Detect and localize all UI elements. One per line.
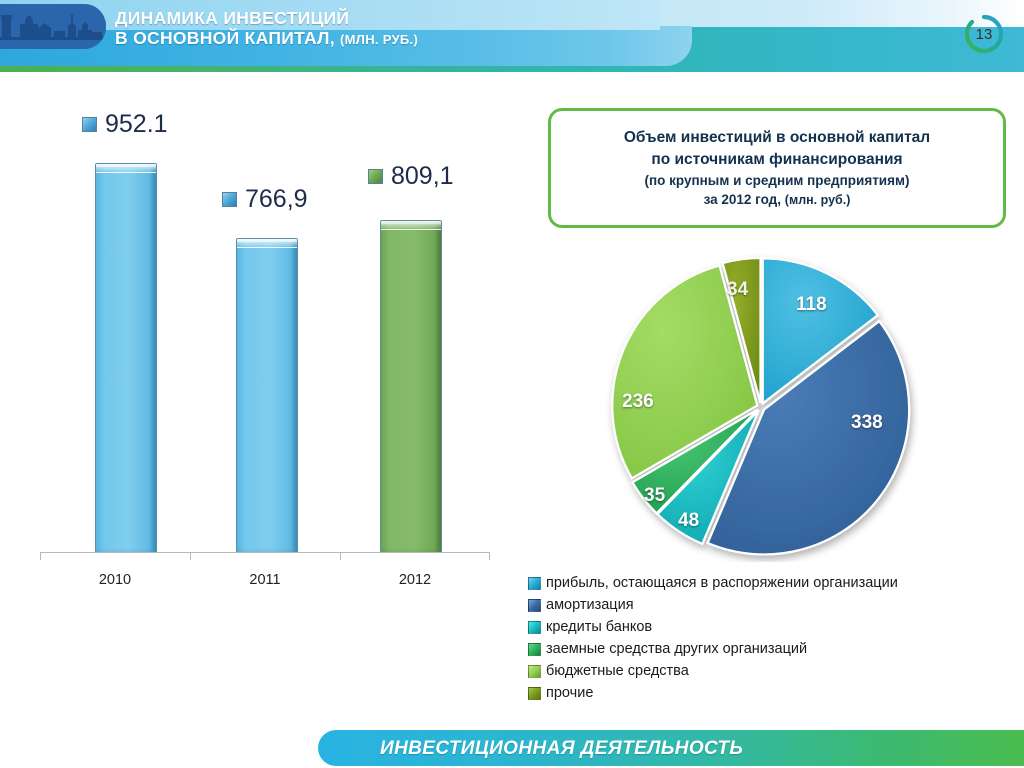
pie-title-line2: по источникам финансирования	[651, 149, 902, 171]
bar-bevel	[96, 164, 156, 173]
legend-swatch-icon-amortization	[528, 599, 541, 612]
x-axis-label-2010: 2010	[65, 572, 165, 588]
legend-item-budget-funds: бюджетные средства	[528, 660, 1018, 682]
page-title-line2: В ОСНОВНОЙ КАПИТАЛ, (МЛН. РУБ.)	[115, 28, 418, 48]
pie-title-line4: за 2012 год, (млн. руб.)	[704, 190, 851, 210]
page-number: 13	[962, 12, 1006, 56]
page-title-unit: (МЛН. РУБ.)	[340, 32, 418, 47]
x-axis-tick	[340, 553, 341, 560]
x-axis-tick	[40, 553, 41, 560]
bar-value-2012: 809,1	[391, 162, 454, 191]
legend-label-budget-funds: бюджетные средства	[546, 663, 689, 679]
page-title: ДИНАМИКА ИНВЕСТИЦИЙ В ОСНОВНОЙ КАПИТАЛ, …	[115, 8, 418, 49]
pie-chart: 118 338 48 35 236 34	[596, 252, 926, 562]
pie-title-year: за 2012 год,	[704, 192, 781, 207]
pie-chart-title-box: Объем инвестиций в основной капитал по и…	[548, 108, 1006, 228]
bar-marker-icon-2012	[368, 169, 383, 184]
pie-value-338: 338	[851, 412, 883, 434]
bar-marker-icon-2010	[82, 117, 97, 132]
page-title-line2-text: В ОСНОВНОЙ КАПИТАЛ,	[115, 28, 335, 48]
page-number-badge: 13	[962, 12, 1006, 56]
footer-label: ИНВЕСТИЦИОННАЯ ДЕЯТЕЛЬНОСТЬ	[380, 738, 743, 760]
pie-value-34: 34	[727, 279, 748, 301]
pie-value-118: 118	[796, 294, 827, 316]
x-axis-label-2012: 2012	[365, 572, 465, 588]
legend-item-bank-credits: кредиты банков	[528, 616, 1018, 638]
bar-value-label-2012: 809,1	[368, 162, 454, 191]
legend-swatch-icon-other	[528, 687, 541, 700]
x-axis-label-2011: 2011	[215, 572, 315, 588]
footer-banner: ИНВЕСТИЦИОННАЯ ДЕЯТЕЛЬНОСТЬ	[318, 730, 1024, 766]
pie-slices-real	[612, 258, 909, 554]
legend-label-profit: прибыль, остающаяся в распоряжении орган…	[546, 575, 898, 591]
pie-value-35: 35	[644, 485, 665, 507]
page-title-line1: ДИНАМИКА ИНВЕСТИЦИЙ	[115, 8, 349, 28]
bar-2011	[236, 238, 298, 553]
legend-label-borrowed-funds: заемные средства других организаций	[546, 641, 807, 657]
bar-2012	[380, 220, 442, 553]
pie-title-line3: (по крупным и средним предприятиям)	[645, 171, 910, 190]
legend-swatch-icon-budget-funds	[528, 665, 541, 678]
city-skyline-logo	[0, 4, 106, 49]
x-axis-tick	[489, 553, 490, 560]
legend-item-profit: прибыль, остающаяся в распоряжении орган…	[528, 572, 1018, 594]
bar-value-2011: 766,9	[245, 185, 308, 214]
pie-value-48: 48	[678, 510, 699, 532]
legend-label-other: прочие	[546, 685, 593, 701]
legend-item-amortization: амортизация	[528, 594, 1018, 616]
legend-swatch-icon-borrowed-funds	[528, 643, 541, 656]
bar-chart: 952.1 766,9 809,1 2010 2011 2012	[40, 100, 510, 600]
bar-value-label-2011: 766,9	[222, 185, 308, 214]
bar-2010	[95, 163, 157, 553]
legend-swatch-icon-profit	[528, 577, 541, 590]
x-axis-line	[40, 552, 490, 553]
bar-value-2010: 952.1	[105, 110, 168, 139]
legend-swatch-icon-bank-credits	[528, 621, 541, 634]
pie-value-236: 236	[622, 391, 654, 413]
pie-legend: прибыль, остающаяся в распоряжении орган…	[528, 572, 1018, 704]
x-axis-tick	[190, 553, 191, 560]
legend-label-amortization: амортизация	[546, 597, 634, 613]
slide-root: ДИНАМИКА ИНВЕСТИЦИЙ В ОСНОВНОЙ КАПИТАЛ, …	[0, 0, 1024, 768]
bar-value-label-2010: 952.1	[82, 110, 168, 139]
bar-bevel	[237, 239, 297, 248]
legend-label-bank-credits: кредиты банков	[546, 619, 652, 635]
legend-item-borrowed-funds: заемные средства других организаций	[528, 638, 1018, 660]
pie-title-line1: Объем инвестиций в основной капитал	[624, 127, 930, 149]
bar-bevel	[381, 221, 441, 230]
skyline-icon	[0, 4, 106, 49]
legend-item-other: прочие	[528, 682, 1018, 704]
pie-title-unit: (млн. руб.)	[785, 193, 851, 207]
bar-marker-icon-2011	[222, 192, 237, 207]
